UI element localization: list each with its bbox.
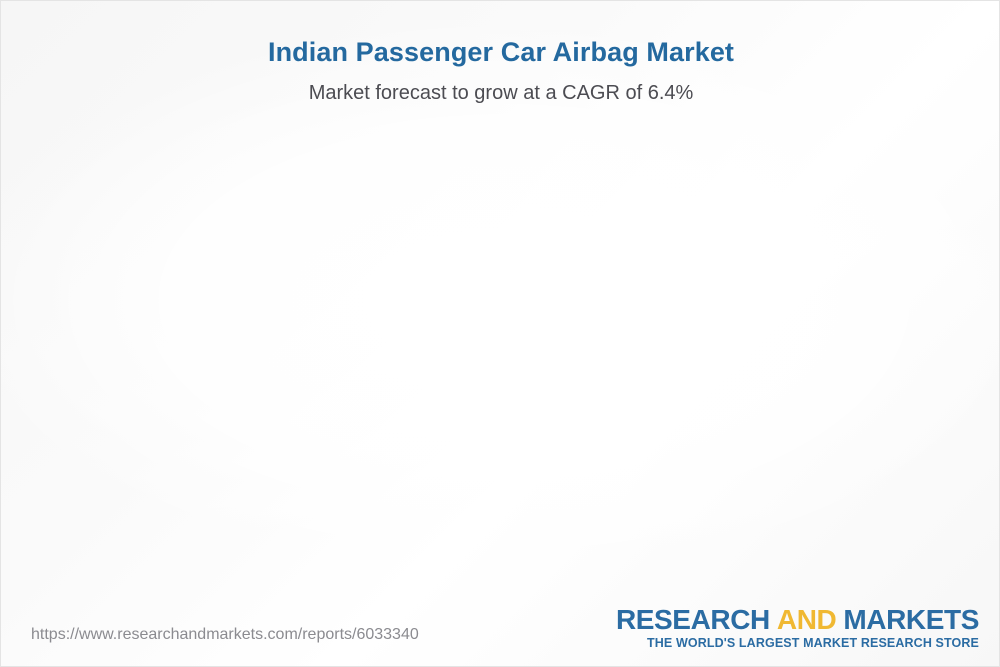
brand-name-markets: MARKETS [843,604,979,635]
brand-name: RESEARCHANDMARKETS [616,605,979,634]
chart-subtitle: Market forecast to grow at a CAGR of 6.4… [1,82,1000,105]
brand-name-research: RESEARCH [616,604,770,635]
source-url-link[interactable]: https://www.researchandmarkets.com/repor… [31,626,419,644]
page-title: Indian Passenger Car Airbag Market [1,37,1000,68]
chart-header: Indian Passenger Car Airbag Market Marke… [1,37,1000,105]
brand-logo[interactable]: RESEARCHANDMARKETS THE WORLD'S LARGEST M… [616,605,979,650]
brand-name-and: AND [777,604,836,635]
chart-footer: https://www.researchandmarkets.com/repor… [1,580,1000,666]
infographic-canvas: Indian Passenger Car Airbag Market Marke… [0,0,1000,667]
brand-tagline: THE WORLD'S LARGEST MARKET RESEARCH STOR… [616,636,979,650]
